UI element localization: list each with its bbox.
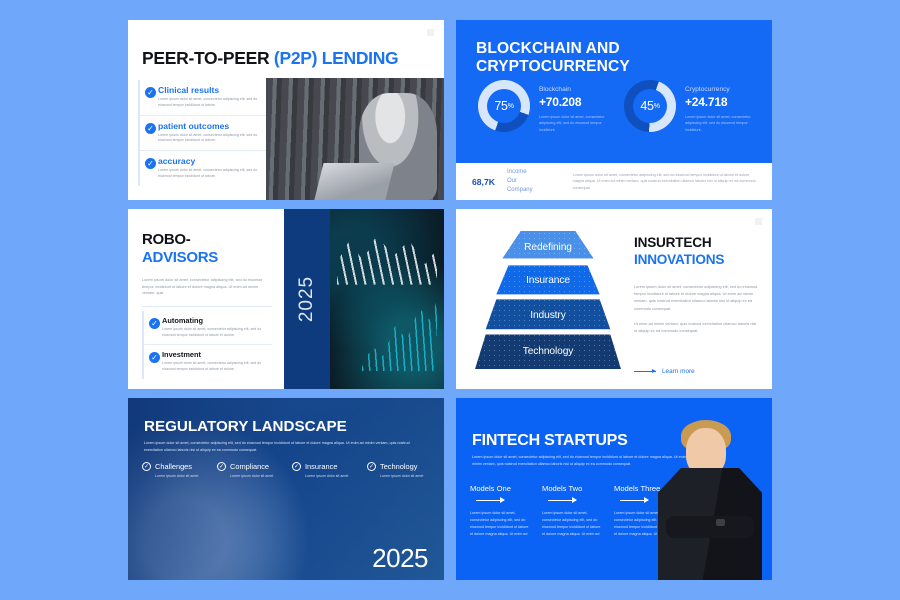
feature-heading: accuracy bbox=[158, 156, 266, 166]
pyramid-layer-label: Redefining bbox=[524, 242, 572, 253]
item-body: Lorem ipsum dolor sit amet bbox=[305, 474, 357, 478]
item-body: Lorem ipsum dolor sit amet bbox=[380, 474, 432, 478]
pyramid-layer-redefining[interactable]: Redefining bbox=[472, 231, 624, 263]
check-icon: ✓ bbox=[149, 352, 160, 363]
model-label: Models One bbox=[470, 484, 532, 493]
item-label: Compliance bbox=[230, 462, 269, 471]
feature-heading: Clinical results bbox=[158, 85, 266, 95]
stat-label: Blockchain bbox=[539, 86, 609, 93]
year-label: 2025 bbox=[296, 276, 318, 322]
person-watch bbox=[716, 519, 725, 526]
check-icon: ✓ bbox=[292, 462, 301, 471]
slide-fintech-startups[interactable]: FINTECH STARTUPS Lorem ipsum dolor sit a… bbox=[456, 398, 772, 580]
page-title: ROBO- bbox=[142, 231, 272, 248]
page-subtitle: INNOVATIONS bbox=[634, 252, 758, 267]
page-subtitle: ADVISORS bbox=[142, 249, 272, 266]
slide-photo bbox=[266, 78, 444, 200]
slide-footer: 68,7K Income Our Company Lorem ipsum dol… bbox=[456, 163, 772, 200]
slide-robo-advisors[interactable]: ROBO- ADVISORS Lorem ipsum dolor sit ame… bbox=[128, 209, 444, 389]
feature-heading: Investment bbox=[162, 350, 272, 359]
donut-percent-label: 45% bbox=[624, 80, 676, 132]
check-icon: ✓ bbox=[149, 318, 160, 329]
body-paragraph: Lorem ipsum dolor sit amet, consectetur … bbox=[634, 283, 758, 312]
pyramid-layer-insurance[interactable]: Insurance bbox=[472, 264, 624, 297]
list-item[interactable]: ✓Insurance Lorem ipsum dolor sit amet bbox=[292, 462, 357, 478]
page-subtitle: Lorem ipsum dolor sit amet, consectetur … bbox=[144, 440, 424, 454]
list-item[interactable]: ✓ Investment Lorem ipsum dolor sit amet,… bbox=[142, 344, 272, 379]
arrow-right-icon bbox=[620, 500, 648, 501]
check-icon: ✓ bbox=[145, 87, 156, 98]
pyramid-layer-technology[interactable]: Technology bbox=[472, 333, 624, 369]
slide-peer-to-peer-lending[interactable]: PEER-TO-PEER (P2P) LENDING ✓ Clinical re… bbox=[128, 20, 444, 200]
stat-body: Lorem ipsum dolor sit amet, consectetur … bbox=[685, 114, 755, 133]
pyramid-layer-label: Insurance bbox=[526, 275, 570, 286]
model-label: Models Two bbox=[542, 484, 604, 493]
slide-blockchain-and-cryptocurrency[interactable]: BLOCKCHAIN AND CRYPTOCURRENCY 75% Blockc… bbox=[456, 20, 772, 200]
item-body: Lorem ipsum dolor sit amet bbox=[155, 474, 207, 478]
feature-heading: Automating bbox=[162, 316, 272, 325]
list-item[interactable]: ✓Technology Lorem ipsum dolor sit amet bbox=[367, 462, 432, 478]
feature-heading: patient outcomes bbox=[158, 121, 266, 131]
learn-more-label: Learn more bbox=[662, 368, 695, 375]
check-icon: ✓ bbox=[145, 158, 156, 169]
item-label: Challenges bbox=[155, 462, 192, 471]
stat-body: Lorem ipsum dolor sit amet, consectetur … bbox=[539, 114, 609, 133]
pyramid-layer-label: Technology bbox=[523, 346, 574, 357]
slide-regulatory-landscape[interactable]: REGULATORY LANDSCAPE Lorem ipsum dolor s… bbox=[128, 398, 444, 580]
page-title: REGULATORY LANDSCAPE bbox=[144, 418, 347, 435]
list-item[interactable]: ✓ patient outcomes Lorem ipsum dolor sit… bbox=[138, 115, 266, 151]
check-icon: ✓ bbox=[145, 123, 156, 134]
page-title: BLOCKCHAIN AND CRYPTOCURRENCY bbox=[476, 40, 772, 76]
learn-more-link[interactable]: Learn more bbox=[634, 368, 695, 375]
stat-blockchain: 75% Blockchain +70.208 Lorem ipsum dolor… bbox=[478, 80, 609, 133]
model-body: Lorem ipsum dolor sit amet, consectetur … bbox=[470, 510, 532, 538]
person-arms bbox=[666, 516, 754, 538]
models-list: Models One Lorem ipsum dolor sit amet, c… bbox=[470, 484, 676, 538]
feature-body: Lorem ipsum dolor sit amet, consectetur … bbox=[162, 361, 272, 373]
page-title: PEER-TO-PEER (P2P) LENDING bbox=[142, 48, 398, 69]
slide-photo bbox=[330, 209, 444, 389]
footer-body: Lorem ipsum dolor sit amet, consectetur … bbox=[573, 172, 756, 191]
intro-text: Lorem ipsum dolor sit amet, consectetur … bbox=[142, 277, 272, 307]
body-paragraph: Ut enim ad minim veniam, quis nostrud ex… bbox=[634, 320, 758, 334]
year-band: 2025 bbox=[284, 209, 330, 389]
arrow-right-icon bbox=[548, 500, 576, 501]
stat-value: +24.718 bbox=[685, 95, 755, 109]
check-icon: ✓ bbox=[217, 462, 226, 471]
list-item[interactable]: ✓ accuracy Lorem ipsum dolor sit amet, c… bbox=[138, 150, 266, 186]
feature-body: Lorem ipsum dolor sit amet, consectetur … bbox=[162, 327, 272, 339]
title-black-part: PEER-TO-PEER bbox=[142, 48, 274, 68]
feature-list: ✓Challenges Lorem ipsum dolor sit amet ✓… bbox=[142, 462, 432, 478]
feature-body: Lorem ipsum dolor sit amet, consectetur … bbox=[158, 97, 266, 109]
feature-body: Lorem ipsum dolor sit amet, consectetur … bbox=[158, 133, 266, 145]
list-item[interactable]: ✓ Automating Lorem ipsum dolor sit amet,… bbox=[142, 311, 272, 345]
stat-label: Cryptocurrency bbox=[685, 86, 755, 93]
slide-deck: PEER-TO-PEER (P2P) LENDING ✓ Clinical re… bbox=[128, 20, 773, 579]
donut-percent-label: 75% bbox=[478, 80, 530, 132]
item-body: Lorem ipsum dolor sit amet bbox=[230, 474, 282, 478]
model-body: Lorem ipsum dolor sit amet, consectetur … bbox=[542, 510, 604, 538]
page-title: FINTECH STARTUPS bbox=[472, 432, 628, 450]
feature-body: Lorem ipsum dolor sit amet, consectetur … bbox=[158, 168, 266, 180]
stat-value: +70.208 bbox=[539, 95, 609, 109]
title-blue-part: (P2P) LENDING bbox=[274, 48, 398, 68]
arrow-right-icon bbox=[476, 500, 504, 501]
footer-value: 68,7K bbox=[472, 177, 495, 187]
check-icon: ✓ bbox=[367, 462, 376, 471]
item-label: Technology bbox=[380, 462, 417, 471]
list-item[interactable]: ✓Compliance Lorem ipsum dolor sit amet bbox=[217, 462, 282, 478]
arrow-right-icon bbox=[634, 371, 656, 372]
dots-decoration-icon bbox=[755, 218, 762, 225]
slide-insurtech-innovations[interactable]: Redefining Insurance Industry Technology… bbox=[456, 209, 772, 389]
stat-cryptocurrency: 45% Cryptocurrency +24.718 Lorem ipsum d… bbox=[624, 80, 755, 133]
year-label: 2025 bbox=[372, 543, 428, 574]
donut-chart-cryptocurrency: 45% bbox=[624, 80, 676, 132]
footer-label: Income Our Company bbox=[507, 168, 533, 194]
check-icon: ✓ bbox=[142, 462, 151, 471]
feature-list: ✓ Clinical results Lorem ipsum dolor sit… bbox=[138, 80, 266, 186]
item-label: Insurance bbox=[305, 462, 337, 471]
pyramid-layer-industry[interactable]: Industry bbox=[472, 298, 624, 332]
list-item[interactable]: Models One Lorem ipsum dolor sit amet, c… bbox=[470, 484, 532, 538]
list-item[interactable]: ✓ Clinical results Lorem ipsum dolor sit… bbox=[138, 80, 266, 115]
feature-list: ✓ Automating Lorem ipsum dolor sit amet,… bbox=[142, 311, 272, 379]
pyramid-diagram: Redefining Insurance Industry Technology bbox=[472, 231, 624, 369]
pyramid-layer-label: Industry bbox=[530, 310, 565, 321]
donut-chart-blockchain: 75% bbox=[478, 80, 530, 132]
list-item[interactable]: Models Two Lorem ipsum dolor sit amet, c… bbox=[542, 484, 604, 538]
list-item[interactable]: ✓Challenges Lorem ipsum dolor sit amet bbox=[142, 462, 207, 478]
page-title: INSURTECH bbox=[634, 235, 758, 250]
slide-photo bbox=[650, 420, 772, 580]
dots-decoration-icon bbox=[427, 29, 434, 36]
